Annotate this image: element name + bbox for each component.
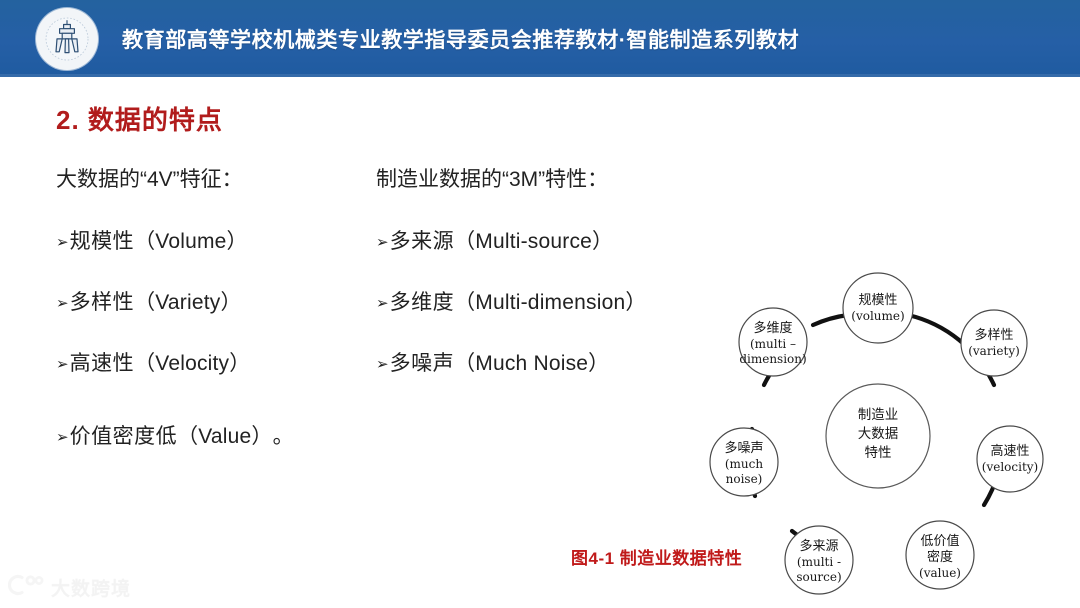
node-label-en: (value)	[919, 566, 961, 580]
left-column-heading: 大数据的“4V”特征：	[56, 163, 376, 193]
spacer	[56, 408, 376, 420]
bullet-label-cn: 多来源	[390, 225, 455, 255]
header-band: 教育部高等学校机械类专业教学指导委员会推荐教材·智能制造系列教材	[0, 0, 1080, 77]
right-column-heading: 制造业数据的“3M”特性：	[376, 163, 706, 193]
bullet-label-cn: 规模性	[70, 225, 135, 255]
center-line-2: 大数据	[858, 426, 899, 442]
node-label-cn: 多噪声	[724, 440, 763, 456]
node-label-cn2: 密度	[927, 549, 953, 565]
node-label-cn: 规模性	[858, 293, 897, 308]
bullet-multi-source: ➢ 多来源 （Multi-source）	[376, 225, 706, 255]
diagram-center-node: 制造业 大数据 特性	[826, 384, 930, 488]
page-title: 2. 数据的特点	[56, 100, 223, 137]
header-title: 教育部高等学校机械类专业教学指导委员会推荐教材·智能制造系列教材	[122, 0, 799, 77]
diagram-node-value: 低价值 密度 (value)	[906, 521, 974, 589]
left-column: 大数据的“4V”特征： ➢ 规模性 （Volume） ➢ 多样性 （Variet…	[56, 163, 376, 450]
bullet-arrow-icon: ➢	[376, 294, 389, 312]
node-label-en-2: source)	[796, 570, 841, 584]
center-line-1: 制造业	[858, 407, 899, 423]
diagram-node-velocity: 高速性 (velocity)	[977, 426, 1043, 492]
bullet-label-cn: 高速性	[70, 347, 135, 377]
node-label-cn: 多样性	[974, 327, 1013, 343]
node-label-en: (velocity)	[982, 460, 1038, 474]
node-label-en: (volume)	[851, 309, 904, 323]
bullet-arrow-icon: ➢	[376, 355, 389, 373]
bullet-label-en: （Variety）	[134, 286, 242, 316]
bullet-arrow-icon: ➢	[56, 428, 69, 446]
bullet-value: ➢ 价值密度低 （Value） 。	[56, 420, 376, 450]
bullet-arrow-icon: ➢	[56, 233, 69, 251]
bullet-label-cn: 价值密度低	[70, 420, 178, 450]
node-label-en: (variety)	[968, 344, 1020, 358]
bullet-label-cn: 多维度	[390, 286, 455, 316]
diagram-node-much-noise: 多噪声 (much noise)	[710, 428, 778, 496]
bullet-label-tail: 。	[273, 420, 294, 450]
bullet-variety: ➢ 多样性 （Variety）	[56, 286, 376, 316]
node-label-en-2: dimension)	[739, 352, 806, 366]
center-line-3: 特性	[865, 445, 892, 461]
bullet-label-cn: 多噪声	[390, 347, 455, 377]
diagram-node-multi-source: 多来源 (multi - source)	[785, 526, 853, 594]
watermark-logo-icon	[8, 573, 44, 602]
bullet-label-en: （Much Noise）	[454, 347, 609, 377]
bullet-label-en: （Multi-source）	[454, 225, 613, 255]
bullet-arrow-icon: ➢	[56, 294, 69, 312]
node-label-en-1: (much	[725, 457, 764, 471]
node-label-cn: 多维度	[753, 320, 792, 336]
node-label-cn: 高速性	[990, 443, 1029, 459]
node-label-cn: 多来源	[799, 538, 838, 554]
node-label-en-1: (multi -	[797, 555, 841, 569]
bullet-volume: ➢ 规模性 （Volume）	[56, 225, 376, 255]
bullet-much-noise: ➢ 多噪声 （Much Noise）	[376, 347, 706, 377]
bullet-label-en: （Value）	[177, 420, 273, 450]
bullet-arrow-icon: ➢	[56, 355, 69, 373]
node-label-cn: 低价值	[920, 533, 959, 549]
institution-logo	[36, 8, 98, 70]
figure-caption: 图4-1 制造业数据特性	[571, 544, 742, 569]
bullet-label-cn: 多样性	[70, 286, 135, 316]
diagram-node-variety: 多样性 (variety)	[961, 310, 1027, 376]
bullet-multi-dimension: ➢ 多维度 （Multi-dimension）	[376, 286, 706, 316]
bullet-label-en: （Volume）	[134, 225, 248, 255]
robotic-gripper-icon	[45, 17, 89, 61]
bullet-label-en: （Velocity）	[134, 347, 250, 377]
watermark-text: 大数跨境	[51, 574, 131, 601]
diagram-node-volume: 规模性 (volume)	[843, 273, 913, 343]
diagram-node-multi-dimension: 多维度 (multi – dimension)	[739, 308, 807, 376]
right-column: 制造业数据的“3M”特性： ➢ 多来源 （Multi-source） ➢ 多维度…	[376, 163, 706, 377]
node-label-en-2: noise)	[726, 472, 763, 486]
bullet-velocity: ➢ 高速性 （Velocity）	[56, 347, 376, 377]
bullet-label-en: （Multi-dimension）	[454, 286, 646, 316]
node-label-en-1: (multi –	[750, 337, 796, 351]
watermark: 大数跨境	[8, 573, 131, 602]
bullet-arrow-icon: ➢	[376, 233, 389, 251]
